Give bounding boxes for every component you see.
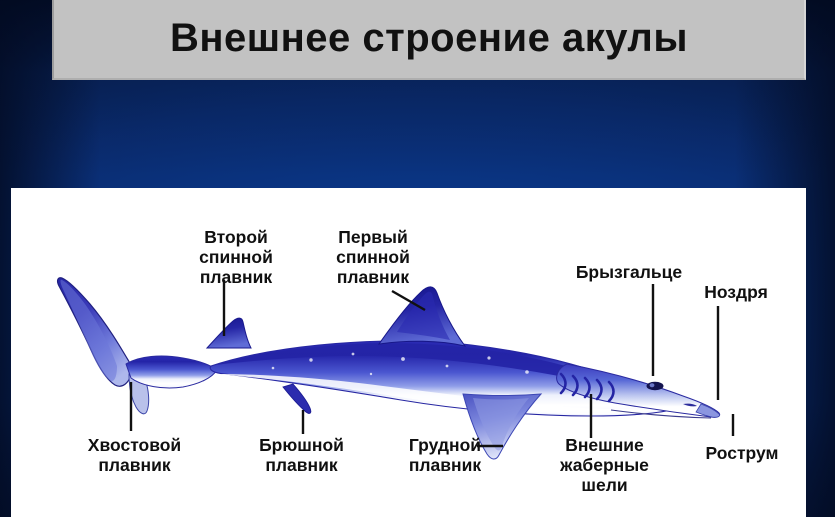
slide-stage: Внешнее строение акулы [0,0,835,517]
label-spiracle: Брызгальце [559,262,699,282]
pelvic-fin-shape [283,384,311,413]
caudal-fin-shape [58,278,217,414]
spiracle-eye-marking [647,382,664,390]
label-caudal-fin: Хвостовой плавник [67,435,202,475]
first-dorsal-fin-shape [379,287,465,346]
label-pectoral-fin: Грудной плавник [385,435,505,475]
label-second-dorsal-fin: Второй спинной плавник [181,227,291,287]
second-dorsal-fin-shape [207,318,251,348]
label-rostrum: Рострум [687,443,797,463]
title-plaque: Внешнее строение акулы [52,0,806,80]
label-pelvic-fin: Брюшной плавник [239,435,364,475]
shark-diagram-panel: Второй спинной плавник Первый спинной пл… [11,188,806,517]
label-nostril: Ноздря [686,282,786,302]
label-first-dorsal-fin: Первый спинной плавник [318,227,428,287]
page-title: Внешнее строение акулы [170,18,688,60]
label-gill-slits: Внешние жаберные шели [542,435,667,495]
